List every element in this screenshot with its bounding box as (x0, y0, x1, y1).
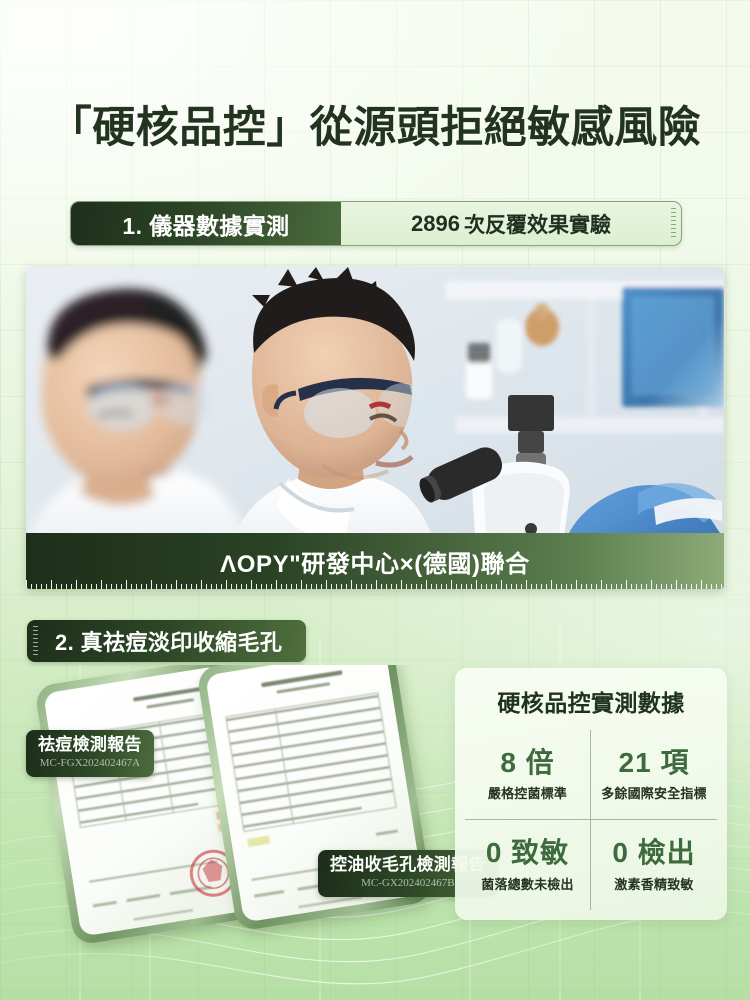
data-cell-1-label: 嚴格控菌標準 (488, 783, 567, 802)
section-1-stat: 2896 次反覆效果實驗 (341, 202, 681, 245)
data-panel-title: 硬核品控實測數據 (465, 684, 717, 718)
photo-caption-bar: ΛOPY"研發中心×(德國)聯合 (26, 533, 724, 589)
page-root: 「硬核品控」從源頭拒絕敏感風險 1. 儀器數據實測 2896 次反覆效果實驗 (0, 0, 750, 1000)
certificate-mockups (0, 665, 470, 955)
photo-caption-text: ΛOPY"研發中心×(德國)聯合 (220, 544, 530, 579)
section-1-stat-number: 2896 (411, 211, 460, 237)
certificate-tag-1: 祛痘檢測報告 MC-FGX202402467A (26, 730, 154, 777)
data-cell-1-value: 8 倍 (500, 747, 554, 779)
section-1-step-label: 1. 儀器數據實測 (71, 202, 341, 245)
data-cell-zero-detected: 0 檢出 激素香精致敏 (591, 820, 717, 910)
lab-photo-container: ΛOPY"研發中心×(德國)聯合 (26, 267, 724, 589)
data-cell-4-value: 0 檢出 (612, 837, 695, 869)
data-cell-3-label: 菌落總數未檢出 (481, 874, 573, 893)
notch-left-decoration-2 (33, 626, 38, 656)
section-2-step-badge: 2. 真祛痘淡印收縮毛孔 (27, 620, 306, 662)
data-cell-safety-indicators: 21 項 多餘國際安全指標 (591, 730, 717, 820)
section-1-step-bar: 1. 儀器數據實測 2896 次反覆效果實驗 (70, 201, 682, 246)
data-cell-2-label: 多餘國際安全指標 (601, 783, 707, 802)
quality-data-panel: 硬核品控實測數據 8 倍 嚴格控菌標準 21 項 多餘國際安全指標 0 致敏 菌… (455, 668, 727, 920)
page-title: 「硬核品控」從源頭拒絕敏感風險 (0, 105, 750, 151)
data-cell-zero-sensitizing: 0 致敏 菌落總數未檢出 (465, 820, 591, 910)
data-cell-4-label: 激素香精致敏 (614, 874, 693, 893)
section-1-stat-text: 次反覆效果實驗 (464, 209, 611, 239)
certificate-tag-1-name: 祛痘檢測報告 (38, 736, 142, 755)
ruler-tick-strip (26, 580, 724, 589)
data-cell-2-value: 21 項 (619, 747, 690, 779)
data-cell-strict-bacteria: 8 倍 嚴格控菌標準 (465, 730, 591, 820)
section-2-step-label: 2. 真祛痘淡印收縮毛孔 (55, 625, 282, 657)
data-panel-grid: 8 倍 嚴格控菌標準 21 項 多餘國際安全指標 0 致敏 菌落總數未檢出 0 … (465, 730, 717, 910)
data-cell-3-value: 0 致敏 (486, 837, 569, 869)
notch-right-decoration (671, 208, 676, 239)
certificate-documents-illustration (0, 665, 470, 965)
certificate-tag-1-code: MC-FGX202402467A (38, 756, 142, 770)
